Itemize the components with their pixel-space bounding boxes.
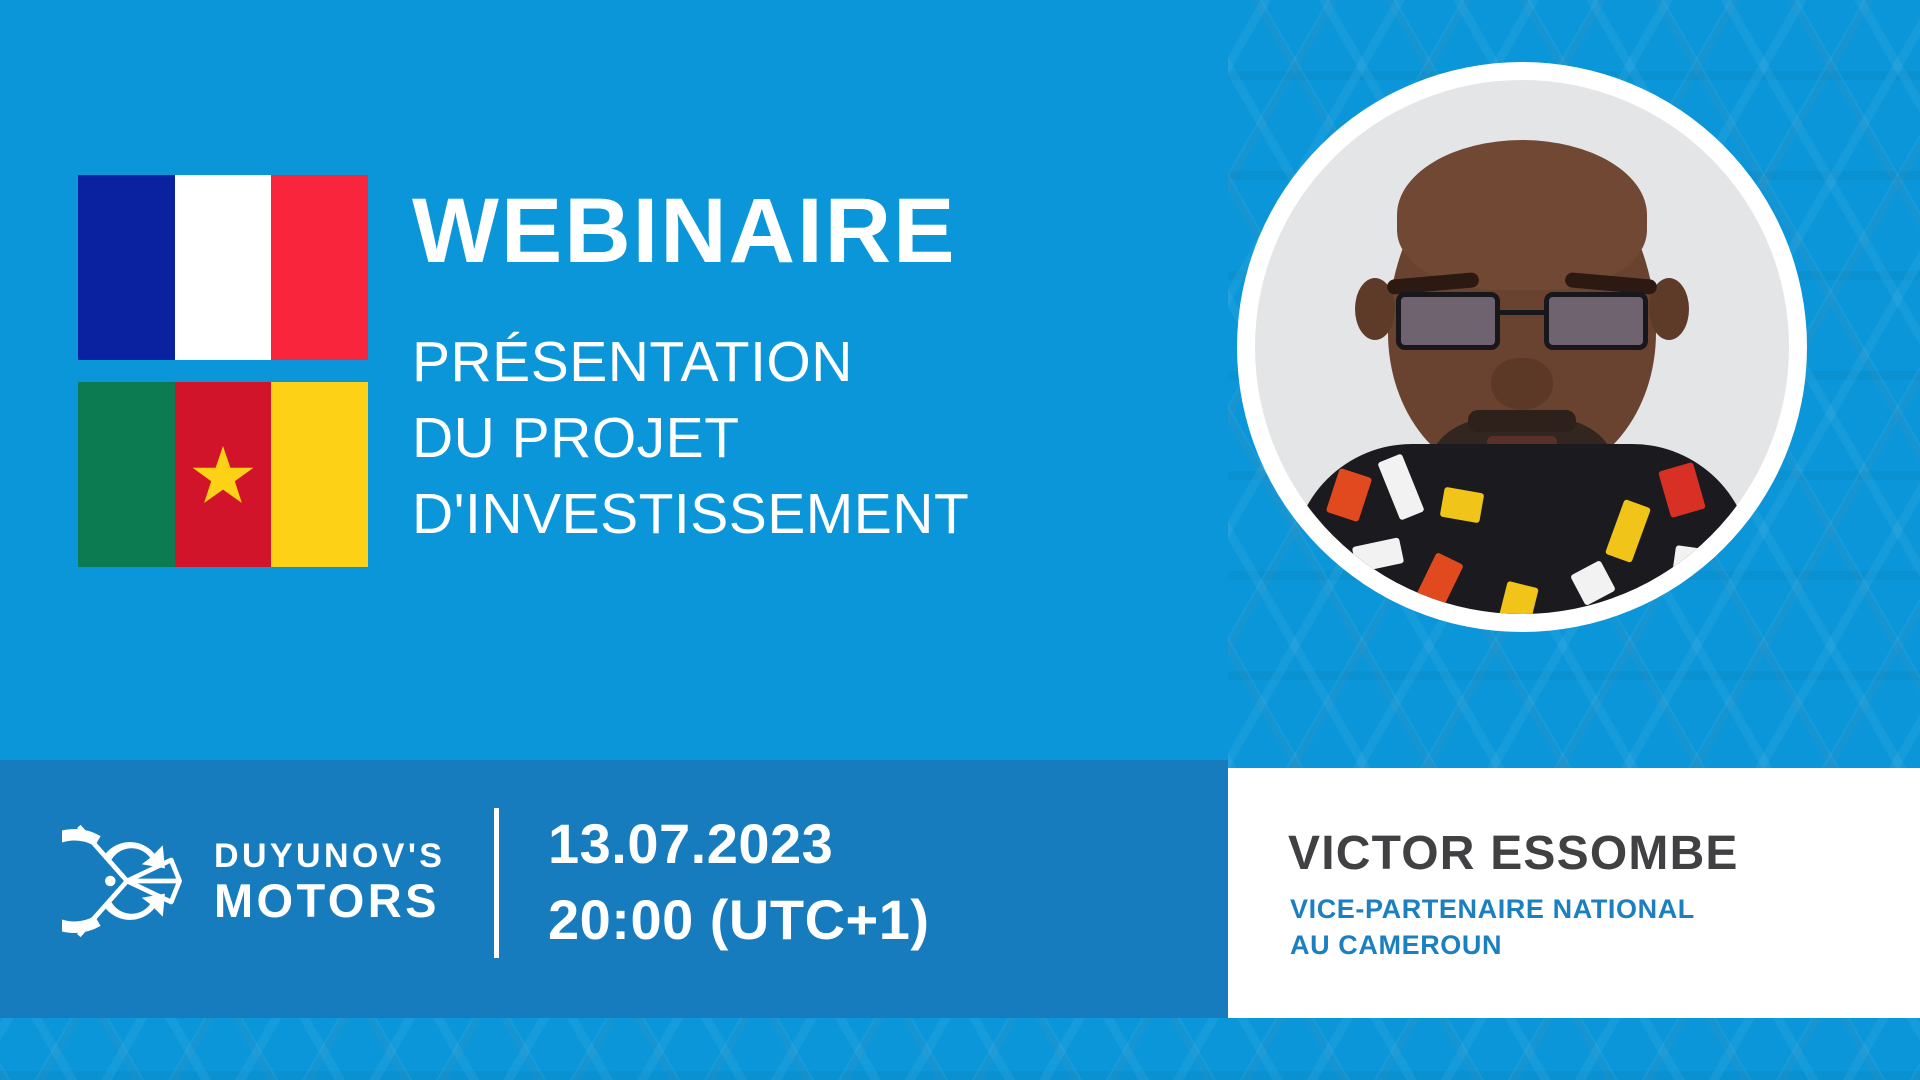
flag-cameroon-band-green <box>78 382 175 567</box>
speaker-portrait <box>1255 80 1789 614</box>
cameroon-star-icon <box>191 444 255 506</box>
flag-cameroon-band-yellow <box>271 382 368 567</box>
brand-wordmark: DUYUNOV'S MOTORS <box>214 839 445 924</box>
glasses-bridge <box>1500 310 1544 315</box>
page-subtitle: PRÉSENTATION DU PROJET D'INVESTISSEMENT <box>412 325 1112 552</box>
glasses-lens-left <box>1396 292 1500 350</box>
speaker-card: VICTOR ESSOMBE VICE-PARTENAIRE NATIONAL … <box>1228 768 1920 1018</box>
headline-block: WEBINAIRE PRÉSENTATION DU PROJET D'INVES… <box>412 185 1112 552</box>
portrait-forehead <box>1397 140 1647 290</box>
avatar <box>1237 62 1807 632</box>
glasses-icon <box>1396 292 1648 354</box>
flag-cameroon <box>78 382 368 567</box>
webinar-banner: WEBINAIRE PRÉSENTATION DU PROJET D'INVES… <box>0 0 1920 1080</box>
portrait-nose <box>1491 358 1553 410</box>
portrait-moustache <box>1468 410 1576 432</box>
flag-france-band-red <box>271 175 368 360</box>
portrait-shirt <box>1292 444 1752 614</box>
subtitle-line-2: DU PROJET <box>412 401 1112 477</box>
duyunov-motors-logo-icon <box>62 818 188 944</box>
vertical-divider <box>494 808 499 958</box>
page-title: WEBINAIRE <box>412 185 1112 277</box>
speaker-role: VICE-PARTENAIRE NATIONAL AU CAMEROUN <box>1290 892 1695 964</box>
brand-logo: DUYUNOV'S MOTORS <box>62 818 445 944</box>
flag-france-band-blue <box>78 175 175 360</box>
glasses-lens-right <box>1544 292 1648 350</box>
event-date: 13.07.2023 <box>548 806 930 882</box>
brand-line-2: MOTORS <box>214 877 445 924</box>
speaker-name: VICTOR ESSOMBE <box>1288 826 1739 881</box>
event-datetime: 13.07.2023 20:00 (UTC+1) <box>548 806 930 958</box>
subtitle-line-3: D'INVESTISSEMENT <box>412 477 1112 553</box>
subtitle-line-1: PRÉSENTATION <box>412 325 1112 401</box>
flag-france <box>78 175 368 360</box>
event-time: 20:00 (UTC+1) <box>548 882 930 958</box>
speaker-role-line-1: VICE-PARTENAIRE NATIONAL <box>1290 892 1695 928</box>
brand-line-1: DUYUNOV'S <box>214 839 445 873</box>
speaker-role-line-2: AU CAMEROUN <box>1290 928 1695 964</box>
flags-group <box>78 175 368 589</box>
flag-france-band-white <box>175 175 272 360</box>
flag-cameroon-band-red <box>175 382 272 567</box>
